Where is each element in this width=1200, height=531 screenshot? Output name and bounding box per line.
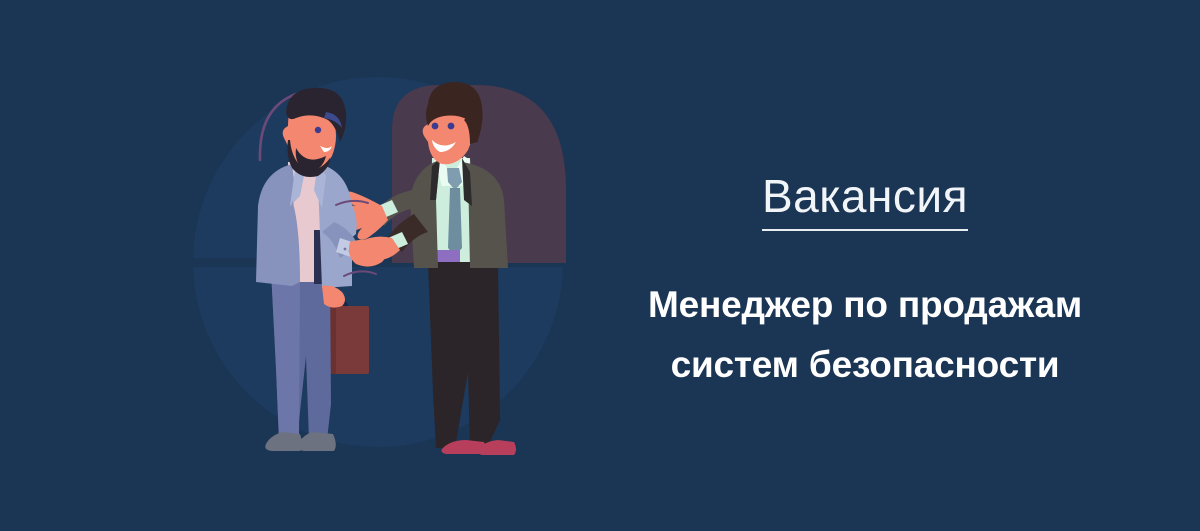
- left-hand-briefcase: [322, 286, 345, 308]
- vacancy-banner: Вакансия Менеджер по продажам систем без…: [0, 0, 1200, 531]
- right-eye-right: [448, 123, 455, 130]
- right-businessman: [335, 82, 516, 455]
- headline-line-2: систем безопасности: [565, 335, 1165, 395]
- left-cuff-button-1: [344, 248, 347, 251]
- right-trousers: [428, 262, 500, 448]
- left-jacket-back-panel: [256, 164, 294, 286]
- left-businessman: [256, 88, 386, 451]
- left-shoe-right: [297, 432, 336, 451]
- headline-line-1: Менеджер по продажам: [565, 275, 1165, 335]
- vacancy-eyebrow: Вакансия: [762, 170, 968, 231]
- right-eye-left: [432, 123, 439, 130]
- left-trousers-highlight: [271, 270, 300, 440]
- right-tie: [448, 188, 462, 256]
- left-shoe-left: [265, 432, 302, 451]
- banner-text-block: Вакансия Менеджер по продажам систем без…: [565, 170, 1165, 395]
- left-eye: [315, 127, 321, 133]
- vacancy-headline: Менеджер по продажам систем безопасности: [565, 275, 1165, 395]
